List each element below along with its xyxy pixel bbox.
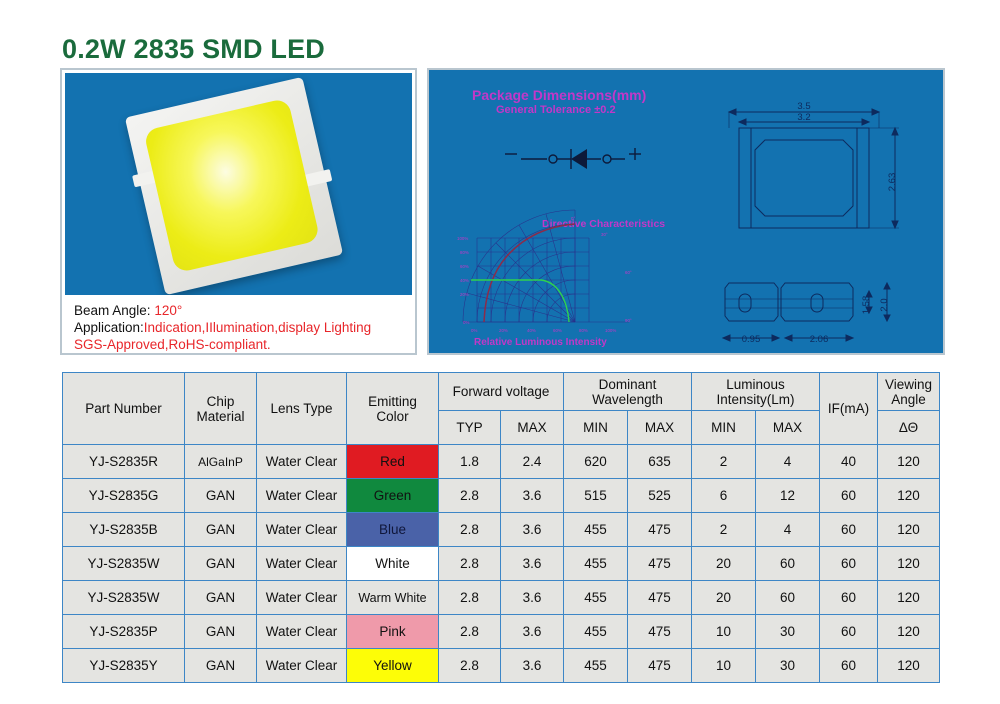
cell-if-ma: 40 [820, 445, 878, 479]
cell-lm-min: 10 [692, 649, 756, 683]
cell-wl-max: 525 [628, 479, 692, 513]
header-emitting-l1: Emitting [368, 394, 417, 409]
cell-vf-typ: 2.8 [439, 649, 501, 683]
header-vf-max: MAX [501, 411, 564, 445]
compliance-line: SGS-Approved,RoHS-compliant. [74, 336, 410, 353]
beam-angle-value: 120° [154, 303, 182, 318]
cell-vf-max: 2.4 [501, 445, 564, 479]
header-viewing-angle-symbol: ΔΘ [878, 411, 940, 445]
header-wl-min: MIN [564, 411, 628, 445]
cell-viewing-angle: 120 [878, 445, 940, 479]
header-forward-voltage: Forward voltage [439, 373, 564, 411]
header-emitting-l2: Color [376, 409, 408, 424]
table-row[interactable]: YJ-S2835RAlGaInPWater ClearRed1.82.46206… [63, 445, 940, 479]
led-notch-right [304, 169, 332, 187]
cell-emitting-color: White [347, 547, 439, 581]
header-lm-max: MAX [756, 411, 820, 445]
cell-wl-max: 475 [628, 649, 692, 683]
cell-lm-max: 30 [756, 615, 820, 649]
cell-if-ma: 60 [820, 615, 878, 649]
beam-angle-line: Beam Angle: 120° [74, 302, 410, 319]
cell-lm-min: 20 [692, 581, 756, 615]
table-row[interactable]: YJ-S2835BGANWater ClearBlue2.83.64554752… [63, 513, 940, 547]
application-line: Application:Indication,IIlumination,disp… [74, 319, 410, 336]
cell-vf-max: 3.6 [501, 615, 564, 649]
cell-vf-typ: 2.8 [439, 547, 501, 581]
cell-lens-type: Water Clear [257, 513, 347, 547]
cell-chip-material: AlGaInP [185, 445, 257, 479]
header-chip-material-l1: Chip [207, 394, 235, 409]
led-phosphor-surface [143, 98, 320, 274]
cell-lens-type: Water Clear [257, 581, 347, 615]
header-lm-min: MIN [692, 411, 756, 445]
cell-wl-max: 475 [628, 581, 692, 615]
cell-wl-min: 455 [564, 581, 628, 615]
header-emitting-color: Emitting Color [347, 373, 439, 445]
cell-vf-max: 3.6 [501, 513, 564, 547]
table-row[interactable]: YJ-S2835WGANWater ClearWhite2.83.6455475… [63, 547, 940, 581]
cell-vf-typ: 2.8 [439, 479, 501, 513]
cell-vf-typ: 2.8 [439, 615, 501, 649]
specification-table: Part Number Chip Material Lens Type Emit… [62, 372, 940, 683]
cell-part-number: YJ-S2835R [63, 445, 185, 479]
header-viewing-angle: Viewing Angle [878, 373, 940, 411]
cell-lens-type: Water Clear [257, 479, 347, 513]
cell-viewing-angle: 120 [878, 649, 940, 683]
cell-chip-material: GAN [185, 649, 257, 683]
cell-part-number: YJ-S2835W [63, 547, 185, 581]
cell-part-number: YJ-S2835P [63, 615, 185, 649]
cell-part-number: YJ-S2835Y [63, 649, 185, 683]
cell-wl-max: 635 [628, 445, 692, 479]
cell-lm-min: 2 [692, 513, 756, 547]
cell-viewing-angle: 120 [878, 581, 940, 615]
dim-top-outer-width: 3.5 [797, 101, 810, 112]
table-row[interactable]: YJ-S2835YGANWater ClearYellow2.83.645547… [63, 649, 940, 683]
header-dominant-l2: Wavelength [592, 392, 663, 407]
header-dominant-l1: Dominant [599, 377, 657, 392]
header-luminous-l2: Intensity(Lm) [716, 392, 794, 407]
cell-wl-min: 620 [564, 445, 628, 479]
cell-lens-type: Water Clear [257, 615, 347, 649]
mechanical-drawing: 3.5 3.2 2.63 0.95 2.06 1.58 2.0 [429, 70, 947, 357]
beam-angle-label: Beam Angle: [74, 303, 154, 318]
cell-viewing-angle: 120 [878, 547, 940, 581]
header-luminous-intensity: Luminous Intensity(Lm) [692, 373, 820, 411]
table-row[interactable]: YJ-S2835GGANWater ClearGreen2.83.6515525… [63, 479, 940, 513]
cell-wl-min: 455 [564, 649, 628, 683]
cell-lm-max: 4 [756, 445, 820, 479]
header-wl-max: MAX [628, 411, 692, 445]
cell-vf-typ: 1.8 [439, 445, 501, 479]
dim-outer-height: 2.0 [879, 298, 890, 311]
cell-viewing-angle: 120 [878, 615, 940, 649]
header-luminous-l1: Luminous [726, 377, 785, 392]
cell-wl-max: 475 [628, 615, 692, 649]
cell-if-ma: 60 [820, 649, 878, 683]
header-if-ma: IF(mA) [820, 373, 878, 445]
header-lens-type: Lens Type [257, 373, 347, 445]
cell-lm-max: 4 [756, 513, 820, 547]
application-value: Indication,IIlumination,display Lighting [144, 320, 371, 335]
cell-emitting-color: Red [347, 445, 439, 479]
cell-if-ma: 60 [820, 513, 878, 547]
cell-lm-min: 20 [692, 547, 756, 581]
cell-emitting-color: Warm White [347, 581, 439, 615]
header-viewing-l2: Angle [891, 392, 926, 407]
dim-top-height: 2.63 [887, 173, 898, 192]
header-chip-material: Chip Material [185, 373, 257, 445]
cell-lens-type: Water Clear [257, 649, 347, 683]
cell-chip-material: GAN [185, 615, 257, 649]
product-spec-text: Beam Angle: 120° Application:Indication,… [74, 302, 410, 353]
cell-wl-min: 515 [564, 479, 628, 513]
dim-pad-width: 0.95 [742, 334, 761, 345]
cell-lm-min: 6 [692, 479, 756, 513]
cell-chip-material: GAN [185, 547, 257, 581]
cell-lm-max: 12 [756, 479, 820, 513]
package-dimensions-panel: Package Dimensions(mm) General Tolerance… [427, 68, 945, 355]
cell-vf-typ: 2.8 [439, 513, 501, 547]
cell-lens-type: Water Clear [257, 445, 347, 479]
cell-vf-typ: 2.8 [439, 581, 501, 615]
page-title: 0.2W 2835 SMD LED [62, 34, 325, 65]
cell-wl-min: 455 [564, 547, 628, 581]
cell-viewing-angle: 120 [878, 479, 940, 513]
cell-if-ma: 60 [820, 547, 878, 581]
cell-wl-max: 475 [628, 547, 692, 581]
header-dominant-wavelength: Dominant Wavelength [564, 373, 692, 411]
table-row[interactable]: YJ-S2835PGANWater ClearPink2.83.64554751… [63, 615, 940, 649]
cell-chip-material: GAN [185, 513, 257, 547]
cell-lm-max: 60 [756, 581, 820, 615]
cell-part-number: YJ-S2835G [63, 479, 185, 513]
product-photo-image [65, 73, 412, 295]
cell-vf-max: 3.6 [501, 547, 564, 581]
cell-vf-max: 3.6 [501, 581, 564, 615]
cell-chip-material: GAN [185, 479, 257, 513]
cell-emitting-color: Green [347, 479, 439, 513]
header-part-number: Part Number [63, 373, 185, 445]
cell-viewing-angle: 120 [878, 513, 940, 547]
cell-if-ma: 60 [820, 479, 878, 513]
table-body: YJ-S2835RAlGaInPWater ClearRed1.82.46206… [63, 445, 940, 683]
dim-body-width: 2.06 [810, 334, 829, 345]
cell-lm-min: 10 [692, 615, 756, 649]
cell-wl-max: 475 [628, 513, 692, 547]
dim-top-inner-width: 3.2 [797, 112, 810, 123]
cell-chip-material: GAN [185, 581, 257, 615]
cell-emitting-color: Yellow [347, 649, 439, 683]
cell-lm-min: 2 [692, 445, 756, 479]
product-photo-panel: Beam Angle: 120° Application:Indication,… [60, 68, 417, 355]
cell-wl-min: 455 [564, 615, 628, 649]
header-viewing-l1: Viewing [885, 377, 932, 392]
cell-emitting-color: Blue [347, 513, 439, 547]
table-row[interactable]: YJ-S2835WGANWater ClearWarm White2.83.64… [63, 581, 940, 615]
cell-vf-max: 3.6 [501, 479, 564, 513]
table-header-row-1: Part Number Chip Material Lens Type Emit… [63, 373, 940, 411]
cell-if-ma: 60 [820, 581, 878, 615]
dim-inner-height: 1.58 [861, 296, 872, 315]
cell-part-number: YJ-S2835W [63, 581, 185, 615]
cell-lens-type: Water Clear [257, 547, 347, 581]
cell-lm-max: 60 [756, 547, 820, 581]
cell-emitting-color: Pink [347, 615, 439, 649]
application-label: Application: [74, 320, 144, 335]
cell-wl-min: 455 [564, 513, 628, 547]
cell-vf-max: 3.6 [501, 649, 564, 683]
header-chip-material-l2: Material [196, 409, 244, 424]
cell-lm-max: 30 [756, 649, 820, 683]
header-vf-typ: TYP [439, 411, 501, 445]
cell-part-number: YJ-S2835B [63, 513, 185, 547]
led-package-body [125, 77, 343, 295]
